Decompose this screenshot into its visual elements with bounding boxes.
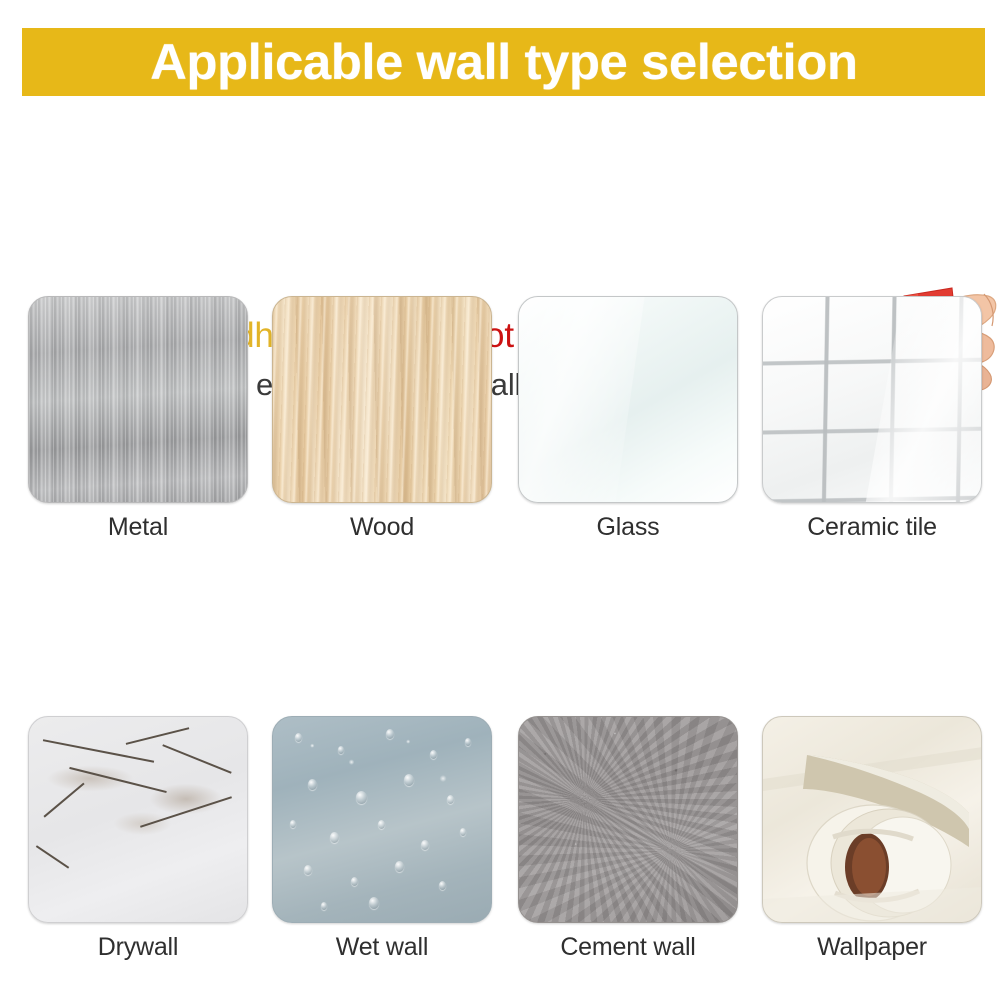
material-cell-cement-wall[interactable]: Cement wall	[518, 716, 738, 962]
swatch-wallpaper	[762, 716, 982, 923]
page-title: Applicable wall type selection	[150, 33, 857, 91]
material-cell-wet-wall[interactable]: Wet wall	[272, 716, 492, 962]
material-label-drywall: Drywall	[28, 933, 248, 962]
material-row-screw: Drywall	[0, 716, 1002, 966]
swatch-metal	[28, 296, 248, 503]
material-label-wet-wall: Wet wall	[272, 933, 492, 962]
material-label-glass: Glass	[518, 513, 738, 542]
section-header-adhesive: Adhesive paste(Not waterproof) for even …	[0, 150, 1002, 280]
material-label-wood: Wood	[272, 513, 492, 542]
material-cell-ceramic-tile[interactable]: Ceramic tile	[762, 296, 982, 542]
swatch-wood	[272, 296, 492, 503]
swatch-ceramic-tile	[762, 296, 982, 503]
infographic-page: Applicable wall type selection	[0, 0, 1002, 1002]
header-banner: Applicable wall type selection	[22, 28, 985, 96]
swatch-drywall	[28, 716, 248, 923]
material-cell-metal[interactable]: Metal	[28, 296, 248, 542]
swatch-wet-wall	[272, 716, 492, 923]
material-label-ceramic-tile: Ceramic tile	[762, 513, 982, 542]
section-header-screw: Screw installation(waterproof) for uneve…	[0, 548, 1002, 688]
material-label-cement-wall: Cement wall	[518, 933, 738, 962]
material-cell-drywall[interactable]: Drywall	[28, 716, 248, 962]
material-cell-glass[interactable]: Glass	[518, 296, 738, 542]
material-row-adhesive: Metal Wood Glass Ceramic tile	[0, 296, 1002, 546]
material-label-metal: Metal	[28, 513, 248, 542]
material-cell-wood[interactable]: Wood	[272, 296, 492, 542]
swatch-cement-wall	[518, 716, 738, 923]
material-cell-wallpaper[interactable]: Wallpaper	[762, 716, 982, 962]
material-label-wallpaper: Wallpaper	[762, 933, 982, 962]
swatch-glass	[518, 296, 738, 503]
